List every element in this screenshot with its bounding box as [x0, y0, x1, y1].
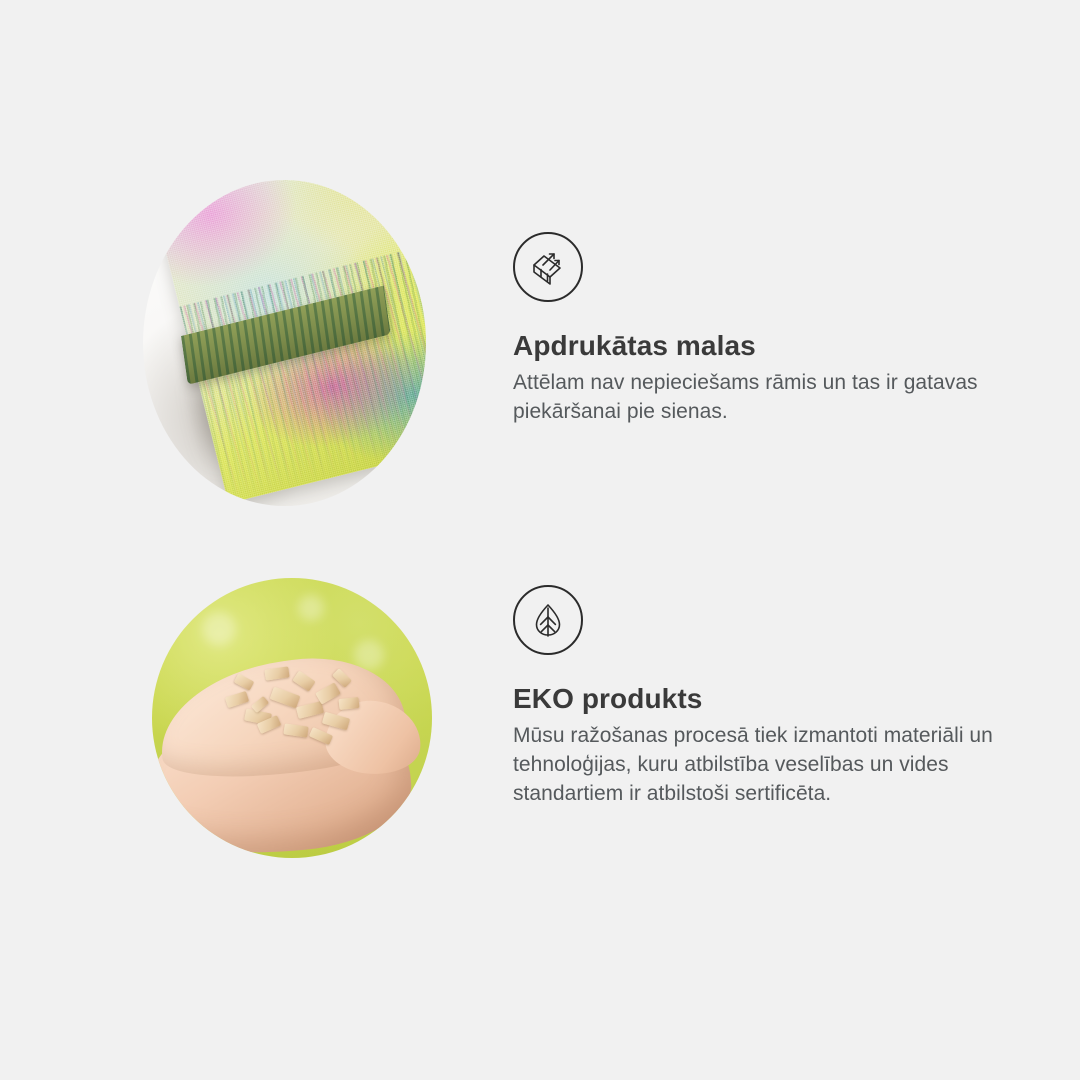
feature-title: Apdrukātas malas — [513, 330, 1013, 362]
wrapped-canvas-edges-icon — [513, 232, 583, 302]
leaf-icon — [513, 585, 583, 655]
canvas-corner-photo — [143, 180, 426, 506]
bokeh-highlight — [202, 612, 236, 646]
feature-eco-product-text: EKO produkts Mūsu ražošanas procesā tiek… — [513, 585, 1013, 808]
feature-title: EKO produkts — [513, 683, 1013, 715]
feature-description: Attēlam nav nepieciešams rāmis un tas ir… — [513, 368, 1013, 426]
feature-printed-edges-text: Apdrukātas malas Attēlam nav nepieciešam… — [513, 232, 1013, 426]
feature-description: Mūsu ražošanas procesā tiek izmantoti ma… — [513, 721, 1013, 808]
infographic-page: Apdrukātas malas Attēlam nav nepieciešam… — [0, 0, 1080, 1080]
hands-holding-wood-chips-photo — [152, 578, 432, 858]
wood-chips-pile — [219, 662, 381, 757]
bokeh-highlight — [298, 595, 324, 621]
